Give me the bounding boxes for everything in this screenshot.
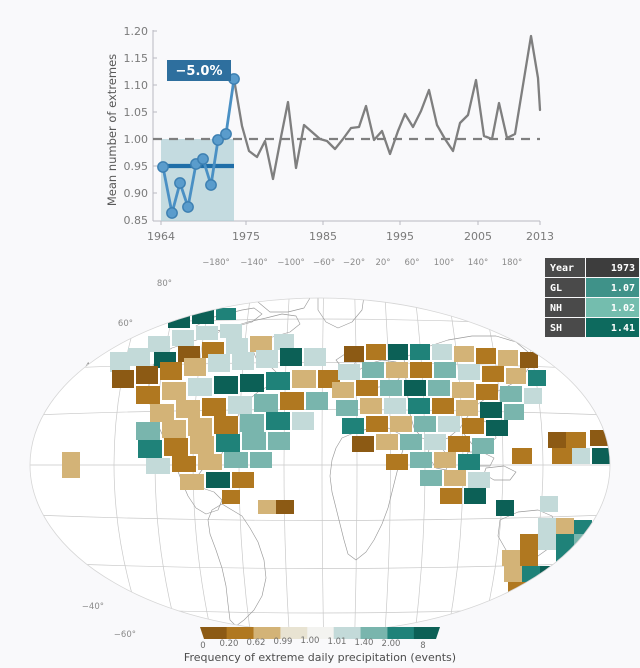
lon-tick: −20° xyxy=(343,258,365,268)
longitude-tick-labels: −180° −140° −100° −60° −20° 20° 60° 100°… xyxy=(202,258,522,268)
lon-tick: 100° xyxy=(434,258,454,268)
worldmap-panel: −180° −140° −100° −60° −20° 20° 60° 100°… xyxy=(0,252,640,668)
lat-tick: −40° xyxy=(82,602,104,612)
stats-row-sh: SH 1.41 xyxy=(545,318,639,337)
y-tick: 1.00 xyxy=(124,133,149,146)
colorbar: 0 0.20 0.62 0.99 1.00 1.01 1.40 2.00 8 F… xyxy=(184,627,456,664)
y-tick: 0.95 xyxy=(124,160,149,173)
stats-key: NH xyxy=(550,303,562,314)
lon-tick: 140° xyxy=(468,258,488,268)
stats-table: Year 1973 GL 1.07 NH 1.02 SH 1.41 xyxy=(545,258,640,340)
lon-tick: −140° xyxy=(240,258,268,268)
y-tick: 1.20 xyxy=(124,25,149,38)
lat-tick: 60° xyxy=(118,319,133,329)
y-tick: 1.10 xyxy=(124,79,149,92)
stats-value: 1.07 xyxy=(611,283,635,294)
stats-row-gl: GL 1.07 xyxy=(545,278,639,297)
y-tick: 0.90 xyxy=(124,187,149,200)
colorbar-title: Frequency of extreme daily precipitation… xyxy=(184,651,456,664)
y-tick: 1.15 xyxy=(124,52,149,65)
lon-tick: −180° xyxy=(202,258,230,268)
stats-value: 1.41 xyxy=(611,323,635,334)
stats-key: Year xyxy=(550,263,574,274)
stats-row-year: Year 1973 xyxy=(545,258,639,277)
lon-tick: −60° xyxy=(313,258,335,268)
figure-canvas: Mean number of extremes 1.20 1.15 1.10 1… xyxy=(0,0,640,668)
y-tick-labels: 1.20 1.15 1.10 1.05 1.00 0.95 0.90 0.85 xyxy=(124,25,149,227)
x-tick: 1985 xyxy=(309,230,337,243)
lat-tick: 80° xyxy=(157,279,172,289)
y-tick: 1.05 xyxy=(124,106,149,119)
cb-tick: 0.20 xyxy=(220,639,239,649)
lat-tick: −60° xyxy=(114,630,136,640)
timeseries-panel: Mean number of extremes 1.20 1.15 1.10 1… xyxy=(0,0,640,252)
y-tick: 0.85 xyxy=(124,214,149,227)
cb-tick: 0.99 xyxy=(274,637,293,647)
cb-tick: 0 xyxy=(200,641,205,651)
x-tick: 1975 xyxy=(232,230,260,243)
gray-series-line xyxy=(234,36,540,179)
cb-tick: 0.62 xyxy=(247,638,266,648)
stats-key: GL xyxy=(550,283,562,294)
colorbar-gradient xyxy=(200,627,440,639)
lon-tick: 60° xyxy=(404,258,419,268)
percent-change-badge: −5.0% xyxy=(167,60,231,81)
stats-key: SH xyxy=(550,323,562,334)
cb-tick: 1.01 xyxy=(328,637,347,647)
cb-tick: 2.00 xyxy=(382,639,401,649)
y-axis-label: Mean number of extremes xyxy=(105,54,119,206)
cb-tick: 1.00 xyxy=(301,636,320,646)
x-tick: 1964 xyxy=(147,230,175,243)
lon-tick: 20° xyxy=(375,258,390,268)
stats-value: 1.02 xyxy=(611,303,635,314)
x-tick: 2005 xyxy=(464,230,492,243)
cb-tick: 8 xyxy=(420,641,425,651)
stats-value: 1973 xyxy=(611,263,635,274)
badge-label: −5.0% xyxy=(176,64,223,79)
cb-tick: 1.40 xyxy=(355,638,374,648)
x-tick-labels: 1964 1975 1985 1995 2005 2013 xyxy=(147,230,554,243)
lon-tick: −100° xyxy=(277,258,305,268)
stats-row-nh: NH 1.02 xyxy=(545,298,639,317)
lon-tick: 180° xyxy=(502,258,522,268)
x-tick: 1995 xyxy=(386,230,414,243)
x-tick: 2013 xyxy=(526,230,554,243)
colorbar-tick-labels: 0 0.20 0.62 0.99 1.00 1.01 1.40 2.00 8 xyxy=(200,636,425,651)
